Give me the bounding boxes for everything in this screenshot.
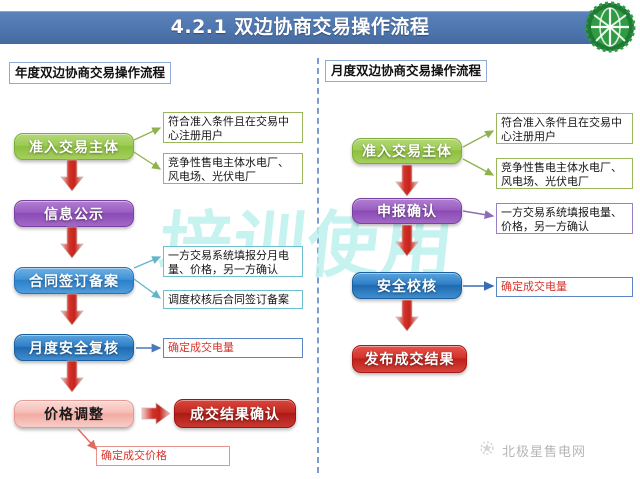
anno-left-confirm-volume: 确定成交电量 (163, 338, 303, 358)
footer-watermark: 北极星售电网 (478, 439, 586, 461)
anno-right-admission-condition: 符合准入条件且在交易中心注册用户 (496, 113, 633, 144)
node-left-contract-filing[interactable]: 合同签订备案 (14, 267, 134, 294)
bjx-star-logo-icon (478, 439, 496, 461)
anno-right-confirm-volume: 确定成交电量 (496, 277, 633, 297)
green-globe-logo-icon (584, 1, 636, 53)
footer-text: 北极星售电网 (502, 441, 586, 460)
anno-left-declaration-detail: 一方交易系统填报分月电量、价格，另一方确认 (163, 246, 303, 277)
anno-left-dispatch-check: 调度校核后合同签订备案 (163, 290, 303, 309)
column-divider (317, 58, 319, 473)
node-left-monthly-security-review[interactable]: 月度安全复核 (14, 334, 134, 361)
anno-right-declaration-detail: 一方交易系统填报电量、价格，另一方确认 (496, 203, 633, 234)
slide-canvas: 4.2.1 双边协商交易操作流程 培训使用 年度双边协商交易操作流程 月度双边协… (0, 0, 640, 479)
node-right-declaration-confirm[interactable]: 申报确认 (352, 198, 462, 224)
anno-right-competitive-sellers: 竞争性售电主体水电厂、风电场、光伏电厂 (496, 158, 633, 189)
right-column-title: 月度双边协商交易操作流程 (325, 60, 487, 82)
left-column-title: 年度双边协商交易操作流程 (9, 62, 171, 84)
node-right-admission[interactable]: 准入交易主体 (352, 138, 462, 164)
anno-left-competitive-sellers: 竞争性售电主体水电厂、风电场、光伏电厂 (163, 153, 303, 184)
node-left-result-confirmation[interactable]: 成交结果确认 (174, 399, 296, 428)
node-left-price-adjustment[interactable]: 价格调整 (14, 400, 134, 428)
node-right-security-check[interactable]: 安全校核 (352, 272, 462, 299)
page-title: 4.2.1 双边协商交易操作流程 (0, 11, 600, 44)
anno-left-admission-condition: 符合准入条件且在交易中心注册用户 (163, 112, 303, 143)
node-left-disclosure[interactable]: 信息公示 (14, 200, 134, 227)
node-right-publish-result[interactable]: 发布成交结果 (352, 345, 467, 373)
anno-left-confirm-price: 确定成交价格 (96, 446, 230, 466)
node-left-admission[interactable]: 准入交易主体 (14, 133, 134, 160)
